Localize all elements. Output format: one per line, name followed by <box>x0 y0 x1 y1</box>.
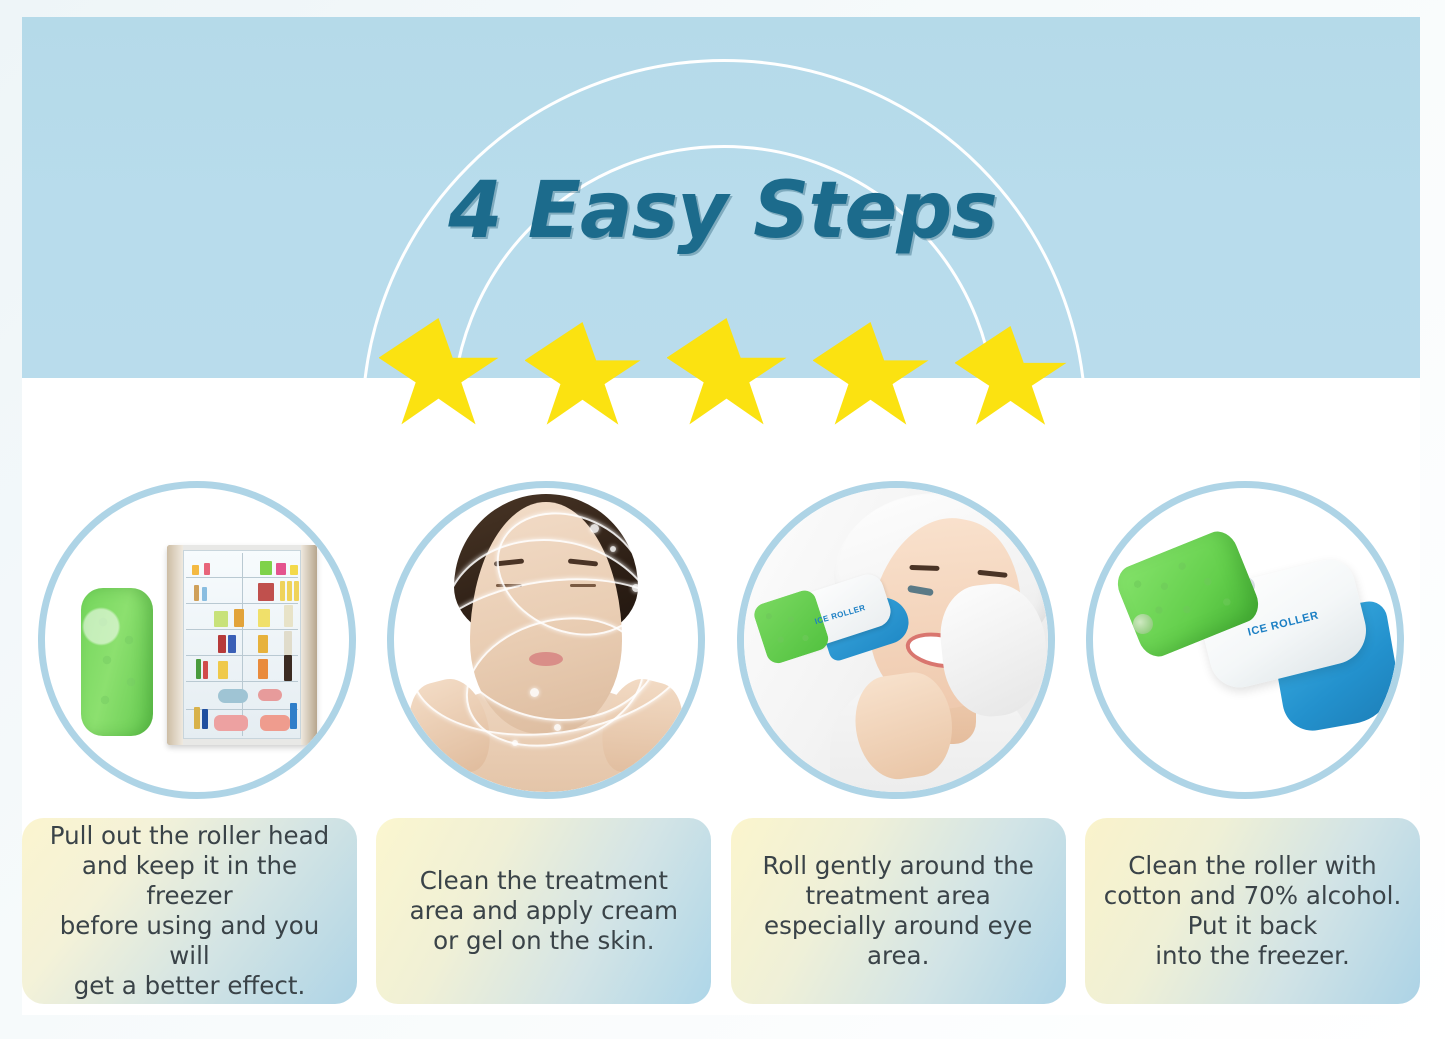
fridge-item <box>258 583 274 601</box>
step-caption-text-4: Clean the roller with cotton and 70% alc… <box>1104 851 1402 971</box>
fridge-item <box>202 587 207 601</box>
fridge-item <box>260 715 290 731</box>
fridge-item <box>284 605 293 627</box>
fridge-interior <box>183 550 301 739</box>
fridge-door-left <box>167 545 183 745</box>
fridge-item <box>194 707 200 729</box>
step-image-row: ICE ROLLER ICE ROLLER <box>22 470 1420 810</box>
fridge-item <box>218 689 248 703</box>
fridge-item <box>194 585 199 601</box>
page-title: 4 Easy Steps <box>0 166 1445 256</box>
fridge-item <box>203 661 208 679</box>
infographic-page: 4 Easy Steps <box>0 0 1445 1039</box>
ice-roller-device: ICE ROLLER <box>1119 536 1389 736</box>
fridge-item <box>287 581 292 601</box>
fridge-item <box>258 609 270 627</box>
step-caption-card-2: Clean the treatment area and apply cream… <box>376 818 711 1004</box>
step-caption-text-1: Pull out the roller head and keep it in … <box>36 821 343 1000</box>
fridge-item <box>228 635 236 653</box>
fridge-item <box>214 715 248 731</box>
fridge-door-right <box>301 545 317 745</box>
fridge-item <box>290 565 298 575</box>
fridge-item <box>202 709 208 729</box>
fridge-item <box>192 565 199 575</box>
fridge-item <box>196 659 201 679</box>
step-image-1 <box>38 481 356 799</box>
fridge-shelf <box>186 603 298 604</box>
refrigerator <box>167 545 317 745</box>
fridge-item <box>214 611 228 627</box>
fridge-item <box>276 563 286 575</box>
eyebrow <box>909 565 939 571</box>
step-caption-card-3: Roll gently around the treatment area es… <box>731 818 1066 1004</box>
fridge-shelf <box>186 577 298 578</box>
eyebrow <box>977 570 1007 578</box>
fridge-item <box>284 631 292 655</box>
fridge-item <box>258 689 282 701</box>
step-image-3: ICE ROLLER <box>737 481 1055 799</box>
fridge-item <box>290 703 297 729</box>
fridge-shelf <box>186 655 298 656</box>
fridge-shelf <box>186 681 298 682</box>
step-caption-card-1: Pull out the roller head and keep it in … <box>22 818 357 1004</box>
fridge-item <box>280 581 285 601</box>
woman-washing-face-photo <box>394 488 698 792</box>
roller-head-and-freezer-photo <box>45 488 349 792</box>
step-caption-card-4: Clean the roller with cotton and 70% alc… <box>1085 818 1420 1004</box>
step-caption-text-2: Clean the treatment area and apply cream… <box>410 866 678 956</box>
step-caption-row: Pull out the roller head and keep it in … <box>22 818 1420 1006</box>
fridge-item <box>260 561 272 575</box>
fridge-shelf <box>186 629 298 630</box>
fridge-item <box>258 659 268 679</box>
step-caption-text-3: Roll gently around the treatment area es… <box>763 851 1034 971</box>
fridge-item <box>218 661 228 679</box>
woman-using-ice-roller-photo: ICE ROLLER <box>744 488 1048 792</box>
fridge-item <box>294 581 299 601</box>
step-image-2 <box>387 481 705 799</box>
fridge-item <box>204 563 210 575</box>
step-image-4: ICE ROLLER <box>1086 481 1404 799</box>
fridge-item <box>218 635 226 653</box>
fridge-item <box>234 609 244 627</box>
green-roller-head <box>81 588 153 736</box>
ice-roller-product-photo: ICE ROLLER <box>1093 488 1397 792</box>
fridge-item <box>258 635 268 653</box>
fridge-item <box>284 655 292 681</box>
eye <box>907 585 934 596</box>
